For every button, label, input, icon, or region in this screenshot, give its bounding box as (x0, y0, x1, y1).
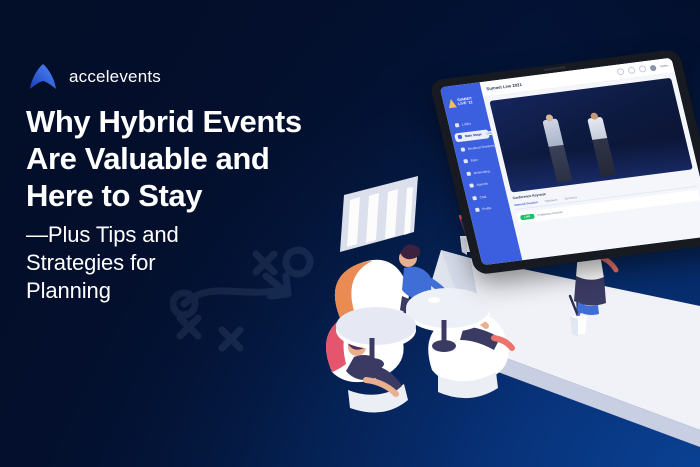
sidebar-item-chat[interactable]: Chat (469, 190, 505, 203)
page-headline: Why Hybrid Events Are Valuable and Here … (26, 104, 386, 215)
brand-name: accelevents (69, 67, 161, 87)
sidebar-item-profile[interactable]: Profile (471, 202, 507, 215)
header-actions: Hayley (616, 62, 668, 75)
page-subheadline: —Plus Tips and Strategies for Planning (26, 221, 386, 305)
sidebar-item-label: Chat (479, 194, 487, 199)
subhead-line-2: Strategies for (26, 249, 386, 277)
laptop-screen: SUMMIT LIVE '21 Lobby Main Stage LIVE (440, 58, 700, 266)
avatar[interactable] (649, 64, 656, 71)
user-icon (475, 208, 480, 212)
brand-logo[interactable]: accelevents (26, 60, 161, 94)
sidebar-item-networking[interactable]: Networking (463, 165, 499, 178)
app-brand: SUMMIT LIVE '21 (445, 90, 482, 114)
hero-text: Why Hybrid Events Are Valuable and Here … (26, 104, 386, 304)
laptop-device: SUMMIT LIVE '21 Lobby Main Stage LIVE (429, 49, 700, 275)
search-icon[interactable] (616, 68, 625, 76)
page-title: Summit Live 2021 (486, 82, 522, 91)
tab-sponsors[interactable]: Sponsors (564, 195, 578, 201)
subhead-line-1: —Plus Tips and (26, 221, 386, 249)
headline-line-3: Here to Stay (26, 178, 386, 215)
sidebar-item-expo[interactable]: Expo (460, 153, 496, 166)
laptop-bezel: SUMMIT LIVE '21 Lobby Main Stage LIVE (429, 49, 700, 275)
sidebar-item-label: Breakout Sessions (467, 143, 494, 150)
headline-line-1: Why Hybrid Events (26, 104, 386, 141)
live-video-player[interactable] (489, 78, 693, 193)
tab-general-session[interactable]: General Session (514, 200, 538, 207)
sidebar-item-label: Agenda (476, 182, 488, 187)
sidebar-item-label: Expo (470, 158, 478, 163)
booth-icon (463, 159, 468, 163)
sidebar-item-breakout-sessions[interactable]: Breakout Sessions (457, 141, 493, 154)
calendar-icon (469, 184, 474, 188)
headline-line-2: Are Valuable and (26, 141, 386, 178)
summit-triangle-logo-icon (447, 98, 457, 108)
hero-banner: SUMMIT LIVE '21 Lobby Main Stage LIVE (0, 0, 700, 467)
cup-on-table (428, 297, 440, 303)
sessions-icon (460, 147, 465, 151)
sidebar-item-label: Profile (482, 206, 492, 211)
people-icon (466, 171, 471, 175)
sidebar-item-lobby[interactable]: Lobby (451, 117, 487, 130)
laptop-notch (543, 66, 565, 71)
status-badge: LIVE (520, 213, 535, 220)
subhead-line-3: Planning (26, 277, 386, 305)
stage-icon (457, 135, 462, 139)
chat-icon (472, 196, 477, 200)
calendar-icon[interactable] (627, 66, 636, 74)
sidebar-item-main-stage[interactable]: Main Stage LIVE (454, 129, 490, 142)
user-name: Hayley (660, 64, 669, 68)
sidebar-item-label: Main Stage (464, 132, 482, 138)
sidebar-item-agenda[interactable]: Agenda (466, 178, 502, 191)
sidebar-item-label: Networking (473, 169, 490, 175)
home-icon (455, 123, 460, 127)
session-card-title: Conference Keynote (537, 210, 563, 217)
sidebar-item-label: Lobby (462, 121, 472, 126)
accelevents-arrow-logo-icon (26, 60, 60, 94)
bell-icon[interactable] (638, 65, 647, 73)
tab-speakers[interactable]: Speakers (544, 197, 558, 203)
app-brand-text: SUMMIT LIVE '21 (457, 95, 481, 107)
